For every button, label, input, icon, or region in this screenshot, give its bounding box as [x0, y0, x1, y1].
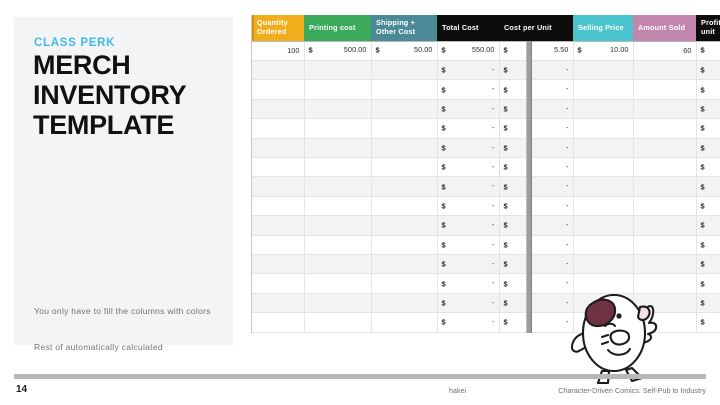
cell-printing-cost[interactable] [304, 216, 371, 235]
cell-quantity-ordered[interactable] [252, 177, 304, 196]
cell-value: - [504, 236, 569, 254]
cell-selling-price[interactable] [573, 254, 633, 273]
cell-value: - [442, 236, 495, 254]
cell-profit-per-unit[interactable]: $- [696, 216, 720, 235]
page-number: 14 [16, 384, 27, 395]
column-header-profit-per-unit[interactable]: Profit per unit [696, 15, 720, 41]
cell-total-cost[interactable]: $- [437, 216, 499, 235]
cell-amount-sold[interactable] [633, 235, 696, 254]
cell-amount-sold[interactable] [633, 80, 696, 99]
cell-printing-cost[interactable] [304, 177, 371, 196]
cell-profit-per-unit[interactable]: $- [696, 254, 720, 273]
currency-symbol: $ [504, 163, 508, 172]
cell-amount-sold[interactable] [633, 177, 696, 196]
currency-symbol: $ [701, 124, 705, 133]
table-row[interactable]: 100$500.00$50.00$550.00$5.50$10.0060$4.5… [252, 41, 720, 60]
table-row[interactable]: $-$- $- [252, 99, 720, 118]
currency-symbol: $ [504, 201, 508, 210]
cell-profit-per-unit[interactable]: $- [696, 99, 720, 118]
cell-total-cost[interactable]: $- [437, 313, 499, 332]
currency-symbol: $ [504, 124, 508, 133]
cell-total-cost[interactable]: $- [437, 235, 499, 254]
cell-value: 5.50 [504, 41, 569, 59]
cell-shipping-other-cost[interactable] [371, 138, 437, 157]
currency-symbol: $ [504, 279, 508, 288]
currency-symbol: $ [442, 46, 446, 55]
cell-value: - [504, 119, 569, 137]
cell-value: - [442, 313, 495, 331]
column-header-quantity-ordered[interactable]: Quantity Ordered [252, 15, 304, 41]
cell-selling-price[interactable] [573, 80, 633, 99]
cell-total-cost[interactable]: $- [437, 80, 499, 99]
currency-symbol: $ [701, 104, 705, 113]
table-row[interactable]: $-$- $- [252, 177, 720, 196]
column-header-amount-sold[interactable]: Amount Sold [633, 15, 696, 41]
cell-cost-per-unit[interactable]: $- [499, 216, 573, 235]
cell-total-cost[interactable]: $- [437, 60, 499, 79]
cell-value: - [504, 197, 569, 215]
currency-symbol: $ [442, 124, 446, 133]
currency-symbol: $ [701, 279, 705, 288]
currency-symbol: $ [701, 163, 705, 172]
column-header-printing-cost[interactable]: Printing cost [304, 15, 371, 41]
table-header-row: Quantity Ordered Printing cost Shipping … [252, 15, 720, 41]
cell-cost-per-unit[interactable]: $- [499, 119, 573, 138]
currency-symbol: $ [701, 221, 705, 230]
table-row[interactable]: $-$- $- [252, 196, 720, 215]
cell-shipping-other-cost[interactable] [371, 157, 437, 176]
cell-profit-per-unit[interactable]: $- [696, 313, 720, 332]
currency-symbol: $ [701, 298, 705, 307]
cell-value: - [504, 177, 569, 195]
cell-shipping-other-cost[interactable] [371, 80, 437, 99]
currency-symbol: $ [701, 201, 705, 210]
cell-value: - [442, 216, 495, 234]
currency-symbol: $ [504, 104, 508, 113]
cell-shipping-other-cost[interactable] [371, 177, 437, 196]
cell-quantity-ordered[interactable] [252, 60, 304, 79]
cell-printing-cost[interactable] [304, 274, 371, 293]
currency-symbol: $ [442, 163, 446, 172]
cell-selling-price[interactable] [573, 99, 633, 118]
cell-value: - [442, 197, 495, 215]
cell-quantity-ordered[interactable] [252, 80, 304, 99]
cell-amount-sold[interactable] [633, 216, 696, 235]
cell-printing-cost[interactable] [304, 119, 371, 138]
cell-quantity-ordered[interactable] [252, 274, 304, 293]
note-auto-calculated: Rest of automatically calculated [34, 341, 220, 354]
cell-shipping-other-cost[interactable] [371, 235, 437, 254]
cell-amount-sold[interactable] [633, 60, 696, 79]
cell-cost-per-unit[interactable]: $- [499, 196, 573, 215]
cell-quantity-ordered[interactable] [252, 138, 304, 157]
cell-shipping-other-cost[interactable]: $50.00 [371, 41, 437, 60]
cell-total-cost[interactable]: $- [437, 177, 499, 196]
currency-symbol: $ [504, 66, 508, 75]
cell-profit-per-unit[interactable]: $- [696, 196, 720, 215]
frozen-pane-divider[interactable] [526, 41, 532, 333]
page-title: MERCH INVENTORY TEMPLATE [33, 50, 233, 140]
table-row[interactable]: $-$- $- [252, 60, 720, 79]
cell-total-cost[interactable]: $- [437, 99, 499, 118]
cell-total-cost[interactable]: $- [437, 196, 499, 215]
column-header-cost-per-unit[interactable]: Cost per Unit [499, 15, 573, 41]
currency-symbol: $ [309, 46, 313, 55]
currency-symbol: $ [442, 279, 446, 288]
cell-value: - [442, 158, 495, 176]
table-row[interactable]: $-$- $- [252, 157, 720, 176]
cell-cost-per-unit[interactable]: $- [499, 80, 573, 99]
cell-total-cost[interactable]: $- [437, 274, 499, 293]
cell-value: - [442, 294, 495, 312]
currency-symbol: $ [504, 182, 508, 191]
cell-value: - [442, 100, 495, 118]
cell-value: - [504, 139, 569, 157]
cell-cost-per-unit[interactable]: $- [499, 157, 573, 176]
cell-value: - [442, 119, 495, 137]
cell-printing-cost[interactable] [304, 293, 371, 312]
currency-symbol: $ [504, 260, 508, 269]
cell-amount-sold[interactable] [633, 157, 696, 176]
cell-printing-cost[interactable] [304, 99, 371, 118]
cell-shipping-other-cost[interactable] [371, 99, 437, 118]
currency-symbol: $ [504, 298, 508, 307]
cell-selling-price[interactable] [573, 119, 633, 138]
eyebrow-label: CLASS PERK [34, 37, 115, 49]
cell-shipping-other-cost[interactable] [371, 293, 437, 312]
cell-selling-price[interactable] [573, 177, 633, 196]
cell-value: - [504, 100, 569, 118]
cell-total-cost[interactable]: $550.00 [437, 41, 499, 60]
currency-symbol: $ [442, 260, 446, 269]
cell-printing-cost[interactable] [304, 235, 371, 254]
cell-amount-sold[interactable] [633, 138, 696, 157]
currency-symbol: $ [442, 240, 446, 249]
currency-symbol: $ [504, 240, 508, 249]
currency-symbol: $ [701, 46, 705, 55]
cell-quantity-ordered[interactable] [252, 235, 304, 254]
cell-total-cost[interactable]: $- [437, 138, 499, 157]
cell-printing-cost[interactable] [304, 313, 371, 332]
cell-value: - [442, 177, 495, 195]
row-selection-marker [251, 15, 254, 41]
note-fill-columns: You only have to fill the columns with c… [34, 305, 220, 318]
cell-profit-per-unit[interactable]: $- [696, 293, 720, 312]
cell-quantity-ordered[interactable] [252, 196, 304, 215]
cell-total-cost[interactable]: $- [437, 293, 499, 312]
cell-value: 50.00 [376, 41, 433, 59]
page-title-line-3: TEMPLATE [33, 110, 233, 140]
currency-symbol: $ [442, 298, 446, 307]
cell-shipping-other-cost[interactable] [371, 216, 437, 235]
footer-course-title: Character-Driven Comics: Self-Pub to Ind… [558, 386, 706, 395]
cell-value: - [442, 80, 495, 98]
column-header-selling-price[interactable]: Selling Price [573, 15, 633, 41]
currency-symbol: $ [701, 85, 705, 94]
cell-value: - [504, 255, 569, 273]
cell-shipping-other-cost[interactable] [371, 274, 437, 293]
column-header-total-cost[interactable]: Total Cost [437, 15, 499, 41]
currency-symbol: $ [504, 85, 508, 94]
cell-profit-per-unit[interactable]: $- [696, 138, 720, 157]
table-row[interactable]: $-$- $- [252, 80, 720, 99]
cell-profit-per-unit[interactable]: $- [696, 177, 720, 196]
currency-symbol: $ [504, 143, 508, 152]
cell-amount-sold[interactable] [633, 196, 696, 215]
cell-total-cost[interactable]: $- [437, 157, 499, 176]
slide-canvas: CLASS PERK MERCH INVENTORY TEMPLATE You … [0, 0, 720, 405]
cell-value: 500.00 [309, 41, 367, 59]
cell-printing-cost[interactable] [304, 60, 371, 79]
cell-value: - [504, 158, 569, 176]
currency-symbol: $ [442, 201, 446, 210]
cell-printing-cost[interactable] [304, 254, 371, 273]
currency-symbol: $ [442, 318, 446, 327]
cell-selling-price[interactable] [573, 216, 633, 235]
cell-value: - [442, 139, 495, 157]
cell-value: 10.00 [578, 41, 629, 59]
cell-printing-cost[interactable] [304, 138, 371, 157]
cell-shipping-other-cost[interactable] [371, 254, 437, 273]
cell-quantity-ordered[interactable] [252, 254, 304, 273]
title-panel: CLASS PERK MERCH INVENTORY TEMPLATE You … [14, 17, 233, 345]
page-title-line-1: MERCH [33, 50, 233, 80]
cell-amount-sold[interactable] [633, 99, 696, 118]
cell-amount-sold[interactable]: 60 [633, 41, 696, 60]
cell-value: - [504, 216, 569, 234]
cell-selling-price[interactable] [573, 60, 633, 79]
cell-selling-price[interactable] [573, 196, 633, 215]
cell-printing-cost[interactable] [304, 157, 371, 176]
currency-symbol: $ [442, 66, 446, 75]
currency-symbol: $ [442, 104, 446, 113]
cell-total-cost[interactable]: $- [437, 119, 499, 138]
cell-selling-price[interactable]: $10.00 [573, 41, 633, 60]
footer-author: hakei [449, 386, 466, 395]
currency-symbol: $ [376, 46, 380, 55]
table-row[interactable]: $-$- $- [252, 235, 720, 254]
cell-cost-per-unit[interactable]: $- [499, 254, 573, 273]
cell-quantity-ordered[interactable] [252, 216, 304, 235]
cell-printing-cost[interactable] [304, 80, 371, 99]
cell-profit-per-unit[interactable]: $- [696, 157, 720, 176]
cell-shipping-other-cost[interactable] [371, 119, 437, 138]
cell-profit-per-unit[interactable]: $- [696, 274, 720, 293]
cell-amount-sold[interactable] [633, 254, 696, 273]
cell-quantity-ordered[interactable] [252, 293, 304, 312]
page-title-line-2: INVENTORY [33, 80, 233, 110]
table-row[interactable]: $-$- $- [252, 216, 720, 235]
cell-cost-per-unit[interactable]: $- [499, 177, 573, 196]
currency-symbol: $ [442, 221, 446, 230]
cell-amount-sold[interactable] [633, 119, 696, 138]
cell-cost-per-unit[interactable]: $- [499, 235, 573, 254]
currency-symbol: $ [578, 46, 582, 55]
header-divider [252, 41, 720, 42]
cell-value: - [442, 61, 495, 79]
cell-profit-per-unit[interactable]: $- [696, 60, 720, 79]
cell-selling-price[interactable] [573, 235, 633, 254]
cell-value: - [504, 61, 569, 79]
cell-quantity-ordered[interactable] [252, 119, 304, 138]
cell-value: - [442, 255, 495, 273]
table-row[interactable]: $-$- $- [252, 254, 720, 273]
currency-symbol: $ [701, 260, 705, 269]
currency-symbol: $ [504, 318, 508, 327]
cell-profit-per-unit[interactable]: $- [696, 235, 720, 254]
cell-shipping-other-cost[interactable] [371, 313, 437, 332]
cell-cost-per-unit[interactable]: $- [499, 60, 573, 79]
cell-value: - [504, 80, 569, 98]
footer-divider [14, 374, 706, 379]
cell-shipping-other-cost[interactable] [371, 60, 437, 79]
table-row[interactable]: $-$- $- [252, 138, 720, 157]
cell-selling-price[interactable] [573, 157, 633, 176]
cell-value: - [442, 274, 495, 292]
column-header-shipping-other-cost[interactable]: Shipping + Other Cost [371, 15, 437, 41]
cell-quantity-ordered[interactable]: 100 [252, 41, 304, 60]
cell-profit-per-unit[interactable]: $4.50 [696, 41, 720, 60]
currency-symbol: $ [701, 66, 705, 75]
currency-symbol: $ [442, 143, 446, 152]
currency-symbol: $ [701, 240, 705, 249]
cell-total-cost[interactable]: $- [437, 254, 499, 273]
cell-quantity-ordered[interactable] [252, 157, 304, 176]
cell-shipping-other-cost[interactable] [371, 196, 437, 215]
currency-symbol: $ [701, 143, 705, 152]
cell-printing-cost[interactable] [304, 196, 371, 215]
cell-profit-per-unit[interactable]: $- [696, 80, 720, 99]
cell-printing-cost[interactable]: $500.00 [304, 41, 371, 60]
currency-symbol: $ [504, 46, 508, 55]
currency-symbol: $ [442, 182, 446, 191]
table-row[interactable]: $-$- $- [252, 119, 720, 138]
cell-selling-price[interactable] [573, 138, 633, 157]
egg-character-thumbs-up-illustration [556, 277, 688, 387]
cell-value: 550.00 [442, 41, 495, 59]
cell-cost-per-unit[interactable]: $- [499, 99, 573, 118]
cell-quantity-ordered[interactable] [252, 99, 304, 118]
cell-cost-per-unit[interactable]: $5.50 [499, 41, 573, 60]
currency-symbol: $ [504, 221, 508, 230]
currency-symbol: $ [701, 182, 705, 191]
currency-symbol: $ [701, 318, 705, 327]
currency-symbol: $ [442, 85, 446, 94]
cell-quantity-ordered[interactable] [252, 313, 304, 332]
cell-profit-per-unit[interactable]: $- [696, 119, 720, 138]
cell-cost-per-unit[interactable]: $- [499, 138, 573, 157]
